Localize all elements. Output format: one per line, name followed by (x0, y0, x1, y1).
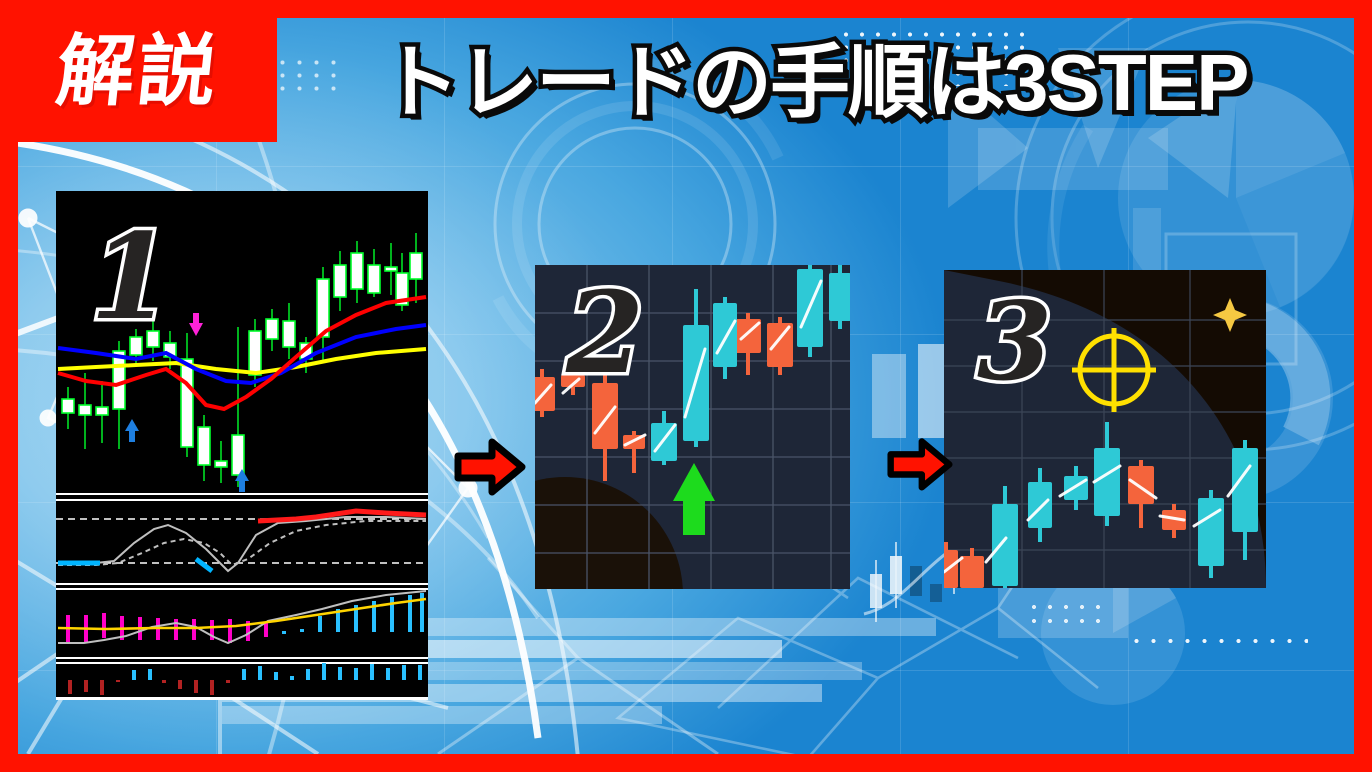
transition-arrow-2 (887, 436, 953, 494)
page-title: トレードの手順は3STEP (380, 43, 1247, 123)
step-number-2: 2 (566, 278, 644, 390)
label-badge: 解説 (0, 0, 277, 142)
label-badge-text: 解説 (53, 32, 223, 110)
step-number-3: 3 (977, 288, 1052, 396)
arrow-right-icon (454, 436, 526, 498)
transition-arrow-1 (454, 436, 526, 498)
arrow-right-icon (887, 436, 953, 493)
thumbnail-stage: 解説 トレードの手順は3STEP (0, 0, 1372, 772)
background-dot-row (1128, 634, 1308, 646)
step-number-1: 1 (90, 218, 172, 336)
deco-bar-column-left (872, 354, 906, 438)
background-dot-matrix-bottom (1026, 600, 1104, 630)
